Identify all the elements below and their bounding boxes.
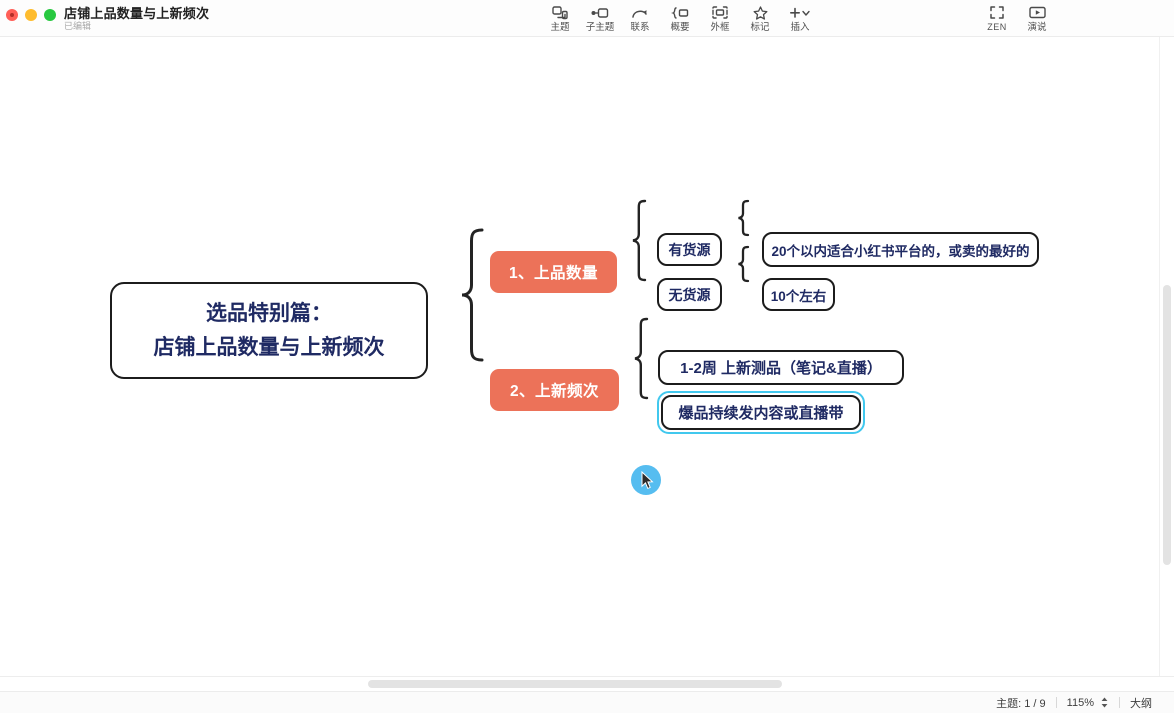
toolbar-summary-button[interactable]: 概要 (660, 2, 700, 36)
toolbar-insert-button[interactable]: 插入 (780, 2, 820, 36)
toolbar-right-group: ZEN 演说 (977, 2, 1174, 36)
toolbar-boundary-button[interactable]: 外框 (700, 2, 740, 36)
star-marker-icon (753, 4, 768, 21)
outline-toggle[interactable]: 大纲 (1120, 695, 1162, 711)
toolbar-summary-label: 概要 (670, 22, 689, 33)
horizontal-scrollbar-thumb[interactable] (368, 680, 782, 688)
branch-node-1[interactable]: 1、上品数量 (490, 251, 617, 293)
toolbar-zen-label: ZEN (987, 22, 1007, 33)
toolbar-relation-label: 联系 (630, 22, 649, 33)
summary-icon (671, 4, 689, 21)
central-topic-line1: 选品特别篇： (206, 297, 332, 331)
topic-count-label: 主题: 1 / 9 (996, 695, 1046, 711)
window-controls (6, 9, 56, 21)
vertical-scrollbar-track[interactable] (1159, 37, 1174, 676)
toolbar-relation-button[interactable]: 联系 (620, 2, 660, 36)
relation-arrow-icon (631, 4, 649, 21)
brace-youhuo-child (732, 199, 752, 237)
zoom-level-label: 115% (1067, 697, 1094, 709)
status-bar: 主题: 1 / 9 115% 大纲 (0, 691, 1174, 713)
central-topic-node[interactable]: 选品特别篇： 店铺上品数量与上新频次 (110, 282, 428, 379)
toolbar-subtopic-button[interactable]: 子主题 (580, 2, 620, 36)
toolbar-presentation-button[interactable]: 演说 (1017, 2, 1057, 36)
toolbar-marker-label: 标记 (750, 22, 769, 33)
toolbar-format-button[interactable]: 格式 (1165, 2, 1174, 36)
zoom-stepper-icon[interactable] (1100, 696, 1109, 709)
topic-count-status: 主题: 1 / 9 (986, 695, 1056, 711)
plus-chevron-icon (789, 4, 811, 21)
subnode-hot-product-content[interactable]: 爆品持续发内容或直播带 (661, 395, 861, 430)
close-button[interactable] (6, 9, 18, 21)
branch-node-2[interactable]: 2、上新频次 (490, 369, 619, 411)
central-topic-line2: 店铺上品数量与上新频次 (154, 331, 385, 365)
toolbar-subtopic-label: 子主题 (586, 22, 615, 33)
brace-central-to-branches (443, 227, 485, 363)
brace-wuhuo-child (732, 245, 752, 283)
topic-icon (552, 4, 568, 21)
app-window: 店铺上品数量与上新频次 已编辑 主题 (0, 0, 1174, 713)
maximize-button[interactable] (44, 9, 56, 21)
subtopic-icon (591, 4, 609, 21)
vertical-scrollbar-thumb[interactable] (1163, 285, 1171, 565)
toolbar-insert-label: 插入 (790, 22, 809, 33)
subnode-youhuoyuan[interactable]: 有货源 (657, 233, 722, 266)
toolbar-topic-button[interactable]: 主题 (540, 2, 580, 36)
subnode-10-around[interactable]: 10个左右 (762, 278, 835, 311)
document-edit-status: 已编辑 (64, 19, 91, 32)
toolbar-marker-button[interactable]: 标记 (740, 2, 780, 36)
toolbar-spacer (1057, 2, 1165, 36)
toolbar-topic-label: 主题 (550, 22, 569, 33)
toolbar-center-group: 主题 子主题 联系 (540, 2, 820, 36)
toolbar-zen-button[interactable]: ZEN (977, 2, 1017, 36)
mouse-cursor-icon (641, 471, 654, 490)
zen-brackets-icon (989, 4, 1005, 21)
brace-branch2-children (628, 317, 650, 400)
subnode-20-within-suitable[interactable]: 20个以内适合小红书平台的，或卖的最好的 (762, 232, 1039, 267)
play-presentation-icon (1029, 4, 1046, 21)
brace-branch1-children (626, 199, 648, 282)
subnode-1-2-weeks-new-product[interactable]: 1-2周 上新测品（笔记&直播） (658, 350, 904, 385)
outline-label: 大纲 (1130, 695, 1152, 711)
boundary-icon (712, 4, 728, 21)
zoom-control[interactable]: 115% (1057, 696, 1119, 709)
toolbar-presentation-label: 演说 (1027, 22, 1046, 33)
title-bar: 店铺上品数量与上新频次 已编辑 主题 (0, 0, 1174, 37)
minimize-button[interactable] (25, 9, 37, 21)
mindmap-canvas[interactable]: 选品特别篇： 店铺上品数量与上新频次 1、上品数量 2、上新频次 有货源 无货源… (0, 37, 1174, 676)
toolbar-boundary-label: 外框 (710, 22, 729, 33)
subnode-wuhuoyuan[interactable]: 无货源 (657, 278, 722, 311)
